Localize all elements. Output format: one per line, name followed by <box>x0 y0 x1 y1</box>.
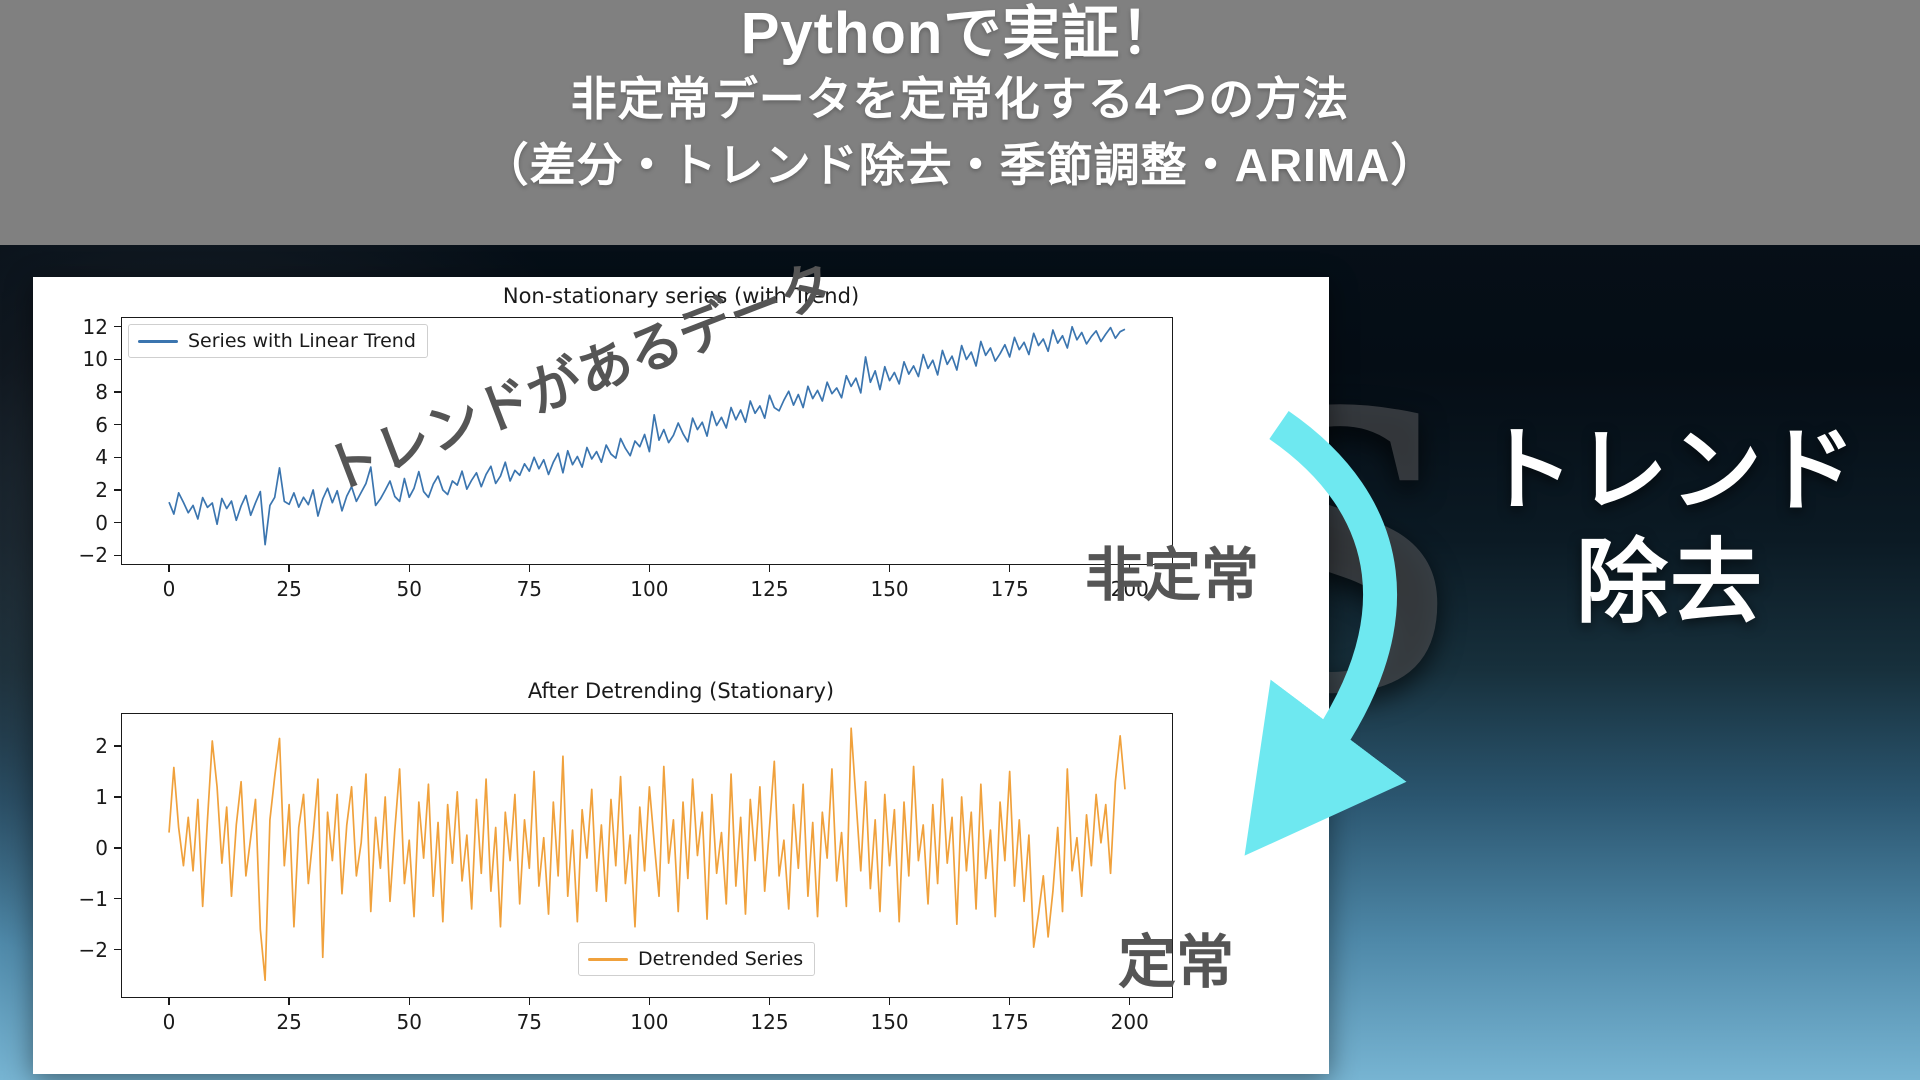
y-tick-label: 0 <box>33 836 108 860</box>
x-tick-mark <box>1129 998 1130 1005</box>
y-tick-mark <box>114 796 121 797</box>
x-tick-label: 175 <box>991 577 1029 601</box>
x-tick-mark <box>649 565 650 572</box>
x-tick-label: 75 <box>517 1010 542 1034</box>
y-tick-mark <box>114 898 121 899</box>
y-tick-mark <box>114 489 121 490</box>
x-tick-mark <box>889 565 890 572</box>
y-tick-mark <box>114 391 121 392</box>
title-line-2: 非定常データを定常化する4つの方法 <box>571 66 1350 132</box>
legend-label-series-with-linear-trend: Series with Linear Trend <box>188 330 416 352</box>
x-tick-mark <box>168 565 169 572</box>
x-tick-label: 200 <box>1111 1010 1149 1034</box>
y-tick-mark <box>114 424 121 425</box>
y-tick-mark <box>114 457 121 458</box>
x-tick-label: 50 <box>396 577 421 601</box>
side-label-trend-removal: トレンド 除去 <box>1455 415 1885 639</box>
matplotlib-figure: Non-stationary series (with Trend) −2024… <box>33 277 1329 1074</box>
x-tick-mark <box>649 998 650 1005</box>
x-tick-mark <box>168 998 169 1005</box>
axes-top: Non-stationary series (with Trend) −2024… <box>33 277 1329 677</box>
x-tick-mark <box>288 565 289 572</box>
y-tick-label: 2 <box>33 734 108 758</box>
x-tick-label: 25 <box>276 1010 301 1034</box>
x-tick-label: 0 <box>163 577 176 601</box>
y-tick-label: −2 <box>33 543 108 567</box>
x-tick-mark <box>889 998 890 1005</box>
y-tick-label: −1 <box>33 887 108 911</box>
y-tick-mark <box>114 745 121 746</box>
side-label-line-2: 除去 <box>1455 527 1885 639</box>
x-tick-label: 25 <box>276 577 301 601</box>
x-tick-mark <box>529 565 530 572</box>
y-tick-label: 4 <box>33 445 108 469</box>
y-tick-label: 1 <box>33 785 108 809</box>
y-tick-mark <box>114 326 121 327</box>
y-tick-mark <box>114 847 121 848</box>
y-tick-mark <box>114 522 121 523</box>
x-tick-label: 50 <box>396 1010 421 1034</box>
x-tick-mark <box>1009 998 1010 1005</box>
x-tick-mark <box>409 565 410 572</box>
x-tick-label: 150 <box>870 1010 908 1034</box>
y-tick-label: −2 <box>33 938 108 962</box>
title-line-3: （差分・トレンド除去・季節調整・ARIMA） <box>483 132 1438 198</box>
x-tick-mark <box>769 565 770 572</box>
y-tick-mark <box>114 359 121 360</box>
x-tick-label: 125 <box>750 1010 788 1034</box>
x-tick-mark <box>529 998 530 1005</box>
legend-bottom[interactable]: Detrended Series <box>578 942 815 976</box>
side-label-line-1: トレンド <box>1455 415 1885 527</box>
y-tick-label: 12 <box>33 315 108 339</box>
title-banner: Pythonで実証！ 非定常データを定常化する4つの方法 （差分・トレンド除去・… <box>0 0 1920 245</box>
y-tick-label: 2 <box>33 478 108 502</box>
y-tick-label: 8 <box>33 380 108 404</box>
y-tick-label: 0 <box>33 511 108 535</box>
y-tick-mark <box>114 555 121 556</box>
legend-color-swatch-orange <box>588 958 628 961</box>
y-tick-label: 10 <box>33 347 108 371</box>
title-line-1: Pythonで実証！ <box>741 2 1180 66</box>
x-tick-label: 125 <box>750 577 788 601</box>
annotation-stationary: 定常 <box>1118 915 1234 999</box>
slide-canvas: RMS Pythonで実証！ 非定常データを定常化する4つの方法 （差分・トレン… <box>0 0 1920 1080</box>
annotation-non-stationary: 非定常 <box>1085 528 1259 612</box>
legend-top[interactable]: Series with Linear Trend <box>128 324 428 358</box>
x-tick-label: 175 <box>991 1010 1029 1034</box>
x-tick-mark <box>409 998 410 1005</box>
y-tick-mark <box>114 949 121 950</box>
legend-label-detrended-series: Detrended Series <box>638 948 803 970</box>
x-tick-mark <box>288 998 289 1005</box>
x-tick-label: 100 <box>630 1010 668 1034</box>
x-tick-label: 150 <box>870 577 908 601</box>
x-tick-label: 75 <box>517 577 542 601</box>
x-tick-mark <box>769 998 770 1005</box>
axes-bottom: After Detrending (Stationary) −2−1012 02… <box>33 677 1329 1074</box>
x-tick-mark <box>1009 565 1010 572</box>
x-tick-label: 0 <box>163 1010 176 1034</box>
x-tick-label: 100 <box>630 577 668 601</box>
legend-color-swatch-blue <box>138 340 178 343</box>
y-tick-label: 6 <box>33 413 108 437</box>
